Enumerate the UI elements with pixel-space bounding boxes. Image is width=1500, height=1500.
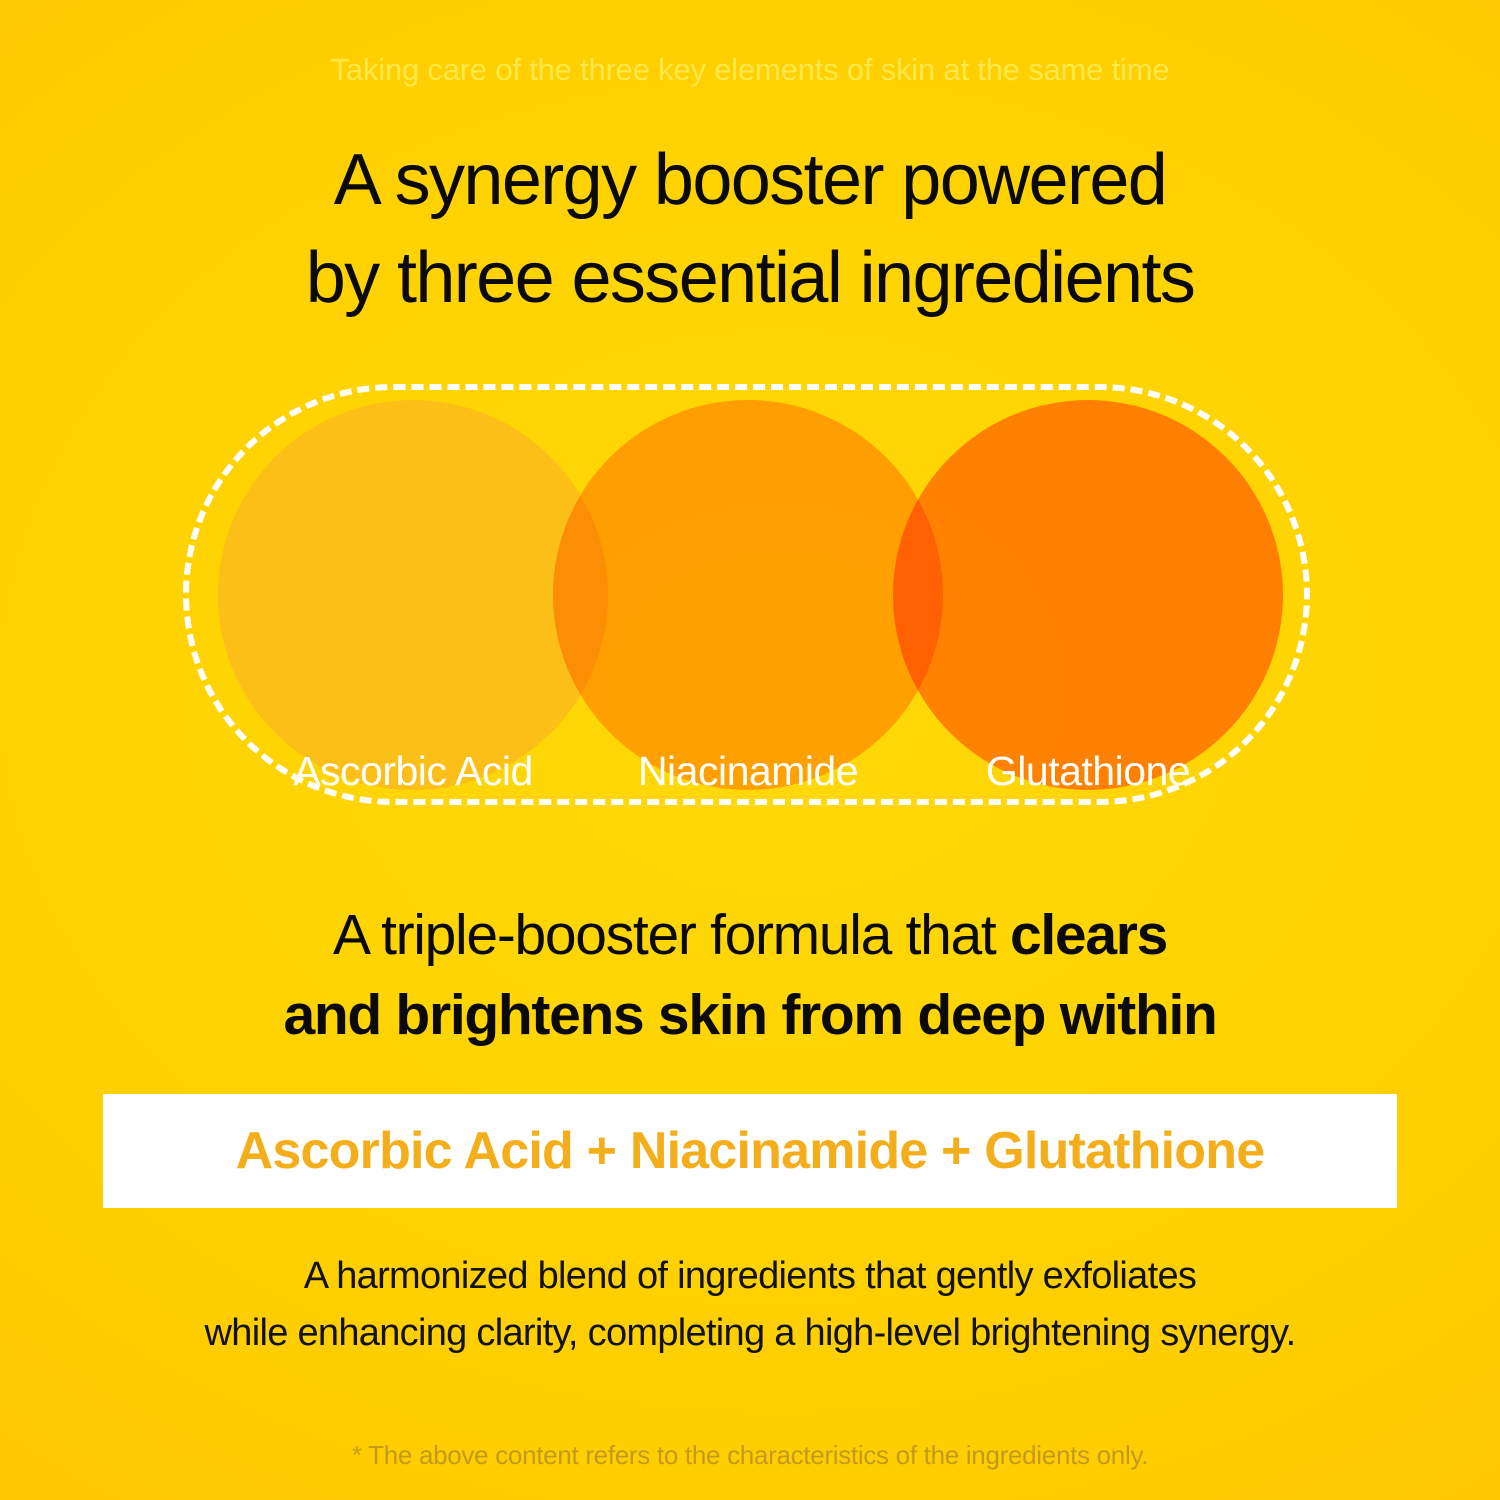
- venn-label-ascorbic-acid: Ascorbic Acid: [218, 748, 608, 795]
- headline-line-1: A synergy booster powered: [334, 140, 1167, 220]
- subheading-line-2: and brightens skin from deep within: [0, 975, 1500, 1055]
- venn-circle-niacinamide: [553, 400, 943, 790]
- venn-circle-ascorbic-acid: [218, 400, 608, 790]
- venn-label-glutathione: Glutathione: [893, 748, 1283, 795]
- footnote-disclaimer: * The above content refers to the charac…: [0, 1440, 1500, 1471]
- venn-label-niacinamide: Niacinamide: [553, 748, 943, 795]
- promo-poster: Taking care of the three key elements of…: [0, 0, 1500, 1500]
- subheading-line-1-emphasis: clears: [1010, 903, 1167, 967]
- headline-line-2: by three essential ingredients: [0, 229, 1500, 327]
- body-copy: A harmonized blend of ingredients that g…: [0, 1248, 1500, 1362]
- subheading: A triple-booster formula that clears and…: [0, 895, 1500, 1055]
- body-copy-line-1: A harmonized blend of ingredients that g…: [304, 1255, 1196, 1297]
- ingredient-banner-text: Ascorbic Acid + Niacinamide + Glutathion…: [236, 1121, 1265, 1181]
- venn-diagram: Ascorbic Acid Niacinamide Glutathione: [0, 370, 1500, 820]
- page-title: A synergy booster powered by three essen…: [0, 131, 1500, 327]
- ingredient-banner: Ascorbic Acid + Niacinamide + Glutathion…: [103, 1094, 1397, 1208]
- eyebrow-text: Taking care of the three key elements of…: [0, 52, 1500, 88]
- subheading-line-1-normal: A triple-booster formula that: [333, 903, 1010, 967]
- venn-circle-glutathione: [893, 400, 1283, 790]
- body-copy-line-2: while enhancing clarity, completing a hi…: [0, 1305, 1500, 1362]
